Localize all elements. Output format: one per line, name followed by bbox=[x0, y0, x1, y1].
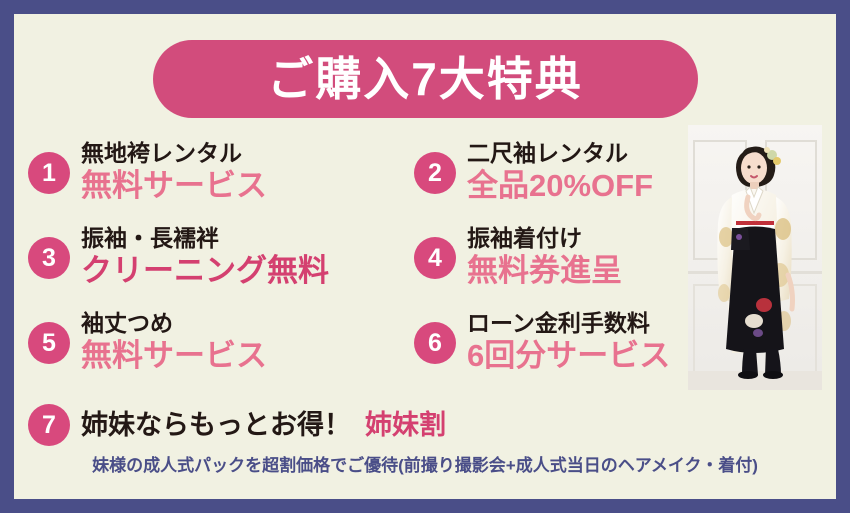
benefit-title: ローン金利手数料 bbox=[467, 309, 670, 338]
benefit-text: 振袖着付け 無料券進呈 bbox=[467, 222, 622, 289]
header-area: ご購入7大特典 bbox=[14, 40, 836, 118]
benefit-highlight: 無料サービス bbox=[81, 168, 267, 205]
benefit-item-7: 7 姉妹ならもっとお得！ 姉妹割 bbox=[28, 404, 446, 446]
benefit-number-badge: 1 bbox=[28, 152, 70, 194]
benefit-item-2: 2 二尺袖レンタル 全品20%OFF bbox=[414, 137, 696, 222]
benefits-grid: 1 無地袴レンタル 無料サービス 2 二尺袖レンタル 全品20%OFF 3 bbox=[28, 137, 696, 392]
benefit-number-badge: 5 bbox=[28, 322, 70, 364]
benefit-title: 袖丈つめ bbox=[81, 309, 267, 338]
benefit-text: ローン金利手数料 6回分サービス bbox=[467, 307, 670, 374]
footnote-text: 妹様の成人式パックを超割価格でご優待(前撮り撮影会+成人式当日のヘアメイク・着付… bbox=[14, 457, 836, 474]
benefit-item-1: 1 無地袴レンタル 無料サービス bbox=[28, 137, 414, 222]
benefit-number-badge: 4 bbox=[414, 237, 456, 279]
benefit-item-4: 4 振袖着付け 無料券進呈 bbox=[414, 222, 696, 307]
promo-banner: ご購入7大特典 bbox=[0, 0, 850, 513]
benefit-highlight: 全品20%OFF bbox=[467, 168, 653, 205]
benefit-number-badge: 3 bbox=[28, 237, 70, 279]
benefit-text: 袖丈つめ 無料サービス bbox=[81, 307, 267, 374]
benefit-row: 3 振袖・長襦袢 クリーニング無料 4 振袖着付け 無料券進呈 bbox=[28, 222, 696, 307]
benefit-number-badge: 2 bbox=[414, 152, 456, 194]
model-photo bbox=[688, 125, 822, 390]
banner-inner: ご購入7大特典 bbox=[14, 14, 836, 499]
benefit-highlight: 無料券進呈 bbox=[467, 253, 622, 290]
benefit-number-badge: 6 bbox=[414, 322, 456, 364]
benefit-text: 姉妹ならもっとお得！ 姉妹割 bbox=[81, 412, 446, 439]
model-photo-illustration bbox=[688, 125, 822, 390]
benefit-item-3: 3 振袖・長襦袢 クリーニング無料 bbox=[28, 222, 414, 307]
benefit-number-badge: 7 bbox=[28, 404, 70, 446]
benefit-item-5: 5 袖丈つめ 無料サービス bbox=[28, 307, 414, 392]
header-pill: ご購入7大特典 bbox=[153, 40, 698, 118]
benefit-title: 無地袴レンタル bbox=[81, 139, 267, 168]
benefit-item-6: 6 ローン金利手数料 6回分サービス bbox=[414, 307, 696, 392]
benefit-title: 振袖・長襦袢 bbox=[81, 224, 329, 253]
benefit-title: 二尺袖レンタル bbox=[467, 139, 653, 168]
benefit-row: 5 袖丈つめ 無料サービス 6 ローン金利手数料 6回分サービス bbox=[28, 307, 696, 392]
benefit-title: 振袖着付け bbox=[467, 224, 622, 253]
benefit-row: 1 無地袴レンタル 無料サービス 2 二尺袖レンタル 全品20%OFF bbox=[28, 137, 696, 222]
benefit-highlight: クリーニング無料 bbox=[81, 253, 329, 290]
benefit-text: 無地袴レンタル 無料サービス bbox=[81, 137, 267, 204]
benefit-text: 振袖・長襦袢 クリーニング無料 bbox=[81, 222, 329, 289]
benefit-title: 姉妹ならもっとお得！ bbox=[81, 412, 351, 439]
benefit-highlight: 6回分サービス bbox=[467, 338, 670, 375]
benefit-text: 二尺袖レンタル 全品20%OFF bbox=[467, 137, 653, 204]
page-title: ご購入7大特典 bbox=[267, 56, 583, 102]
benefit-highlight: 無料サービス bbox=[81, 338, 267, 375]
benefit-highlight: 姉妹割 bbox=[365, 412, 446, 439]
